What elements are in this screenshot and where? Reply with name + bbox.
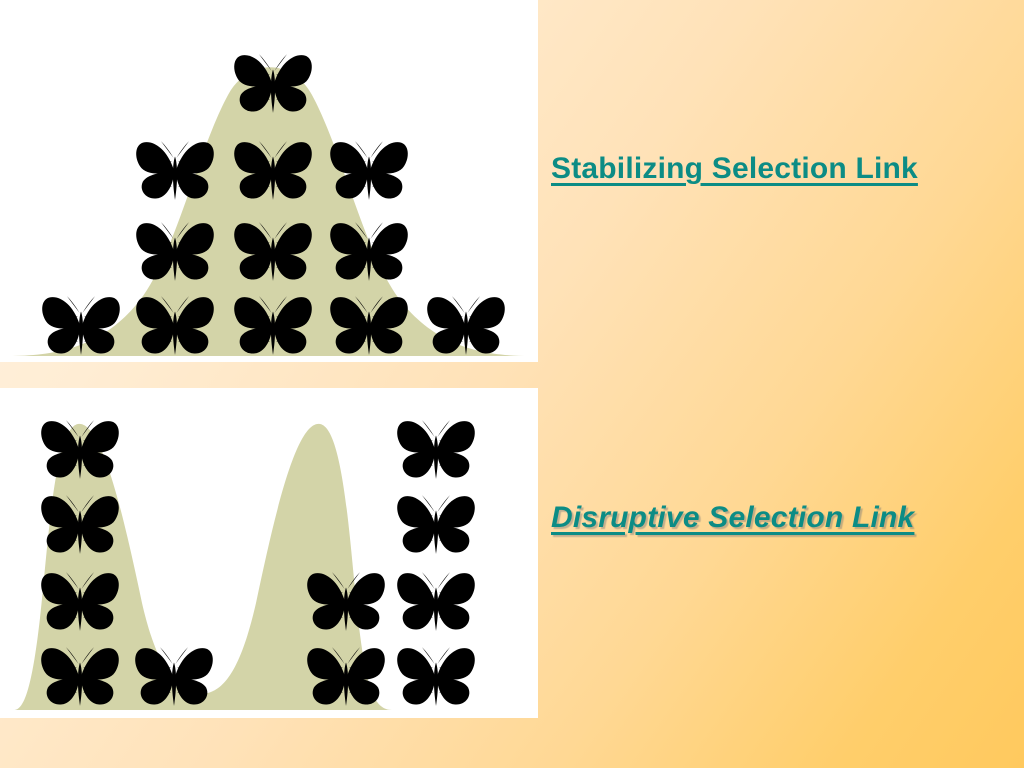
disruptive-selection-chart: [0, 388, 538, 718]
stabilizing-selection-chart: .bf .wu, .bf .wl { stroke: #111111; stro…: [0, 0, 538, 362]
slide-canvas: .bf .wu, .bf .wl { stroke: #111111; stro…: [0, 0, 1024, 768]
stabilizing-selection-link[interactable]: Stabilizing Selection Link: [551, 152, 918, 186]
disruptive-selection-link[interactable]: Disruptive Selection Link: [551, 501, 914, 535]
butterfly-group-right-column-d: [397, 420, 475, 706]
disruptive-selection-image: [0, 388, 538, 718]
stabilizing-selection-image: .bf .wu, .bf .wl { stroke: #111111; stro…: [0, 0, 538, 362]
butterfly-group-left-column-b: [135, 647, 213, 706]
butterfly-group-row1: [234, 54, 312, 113]
